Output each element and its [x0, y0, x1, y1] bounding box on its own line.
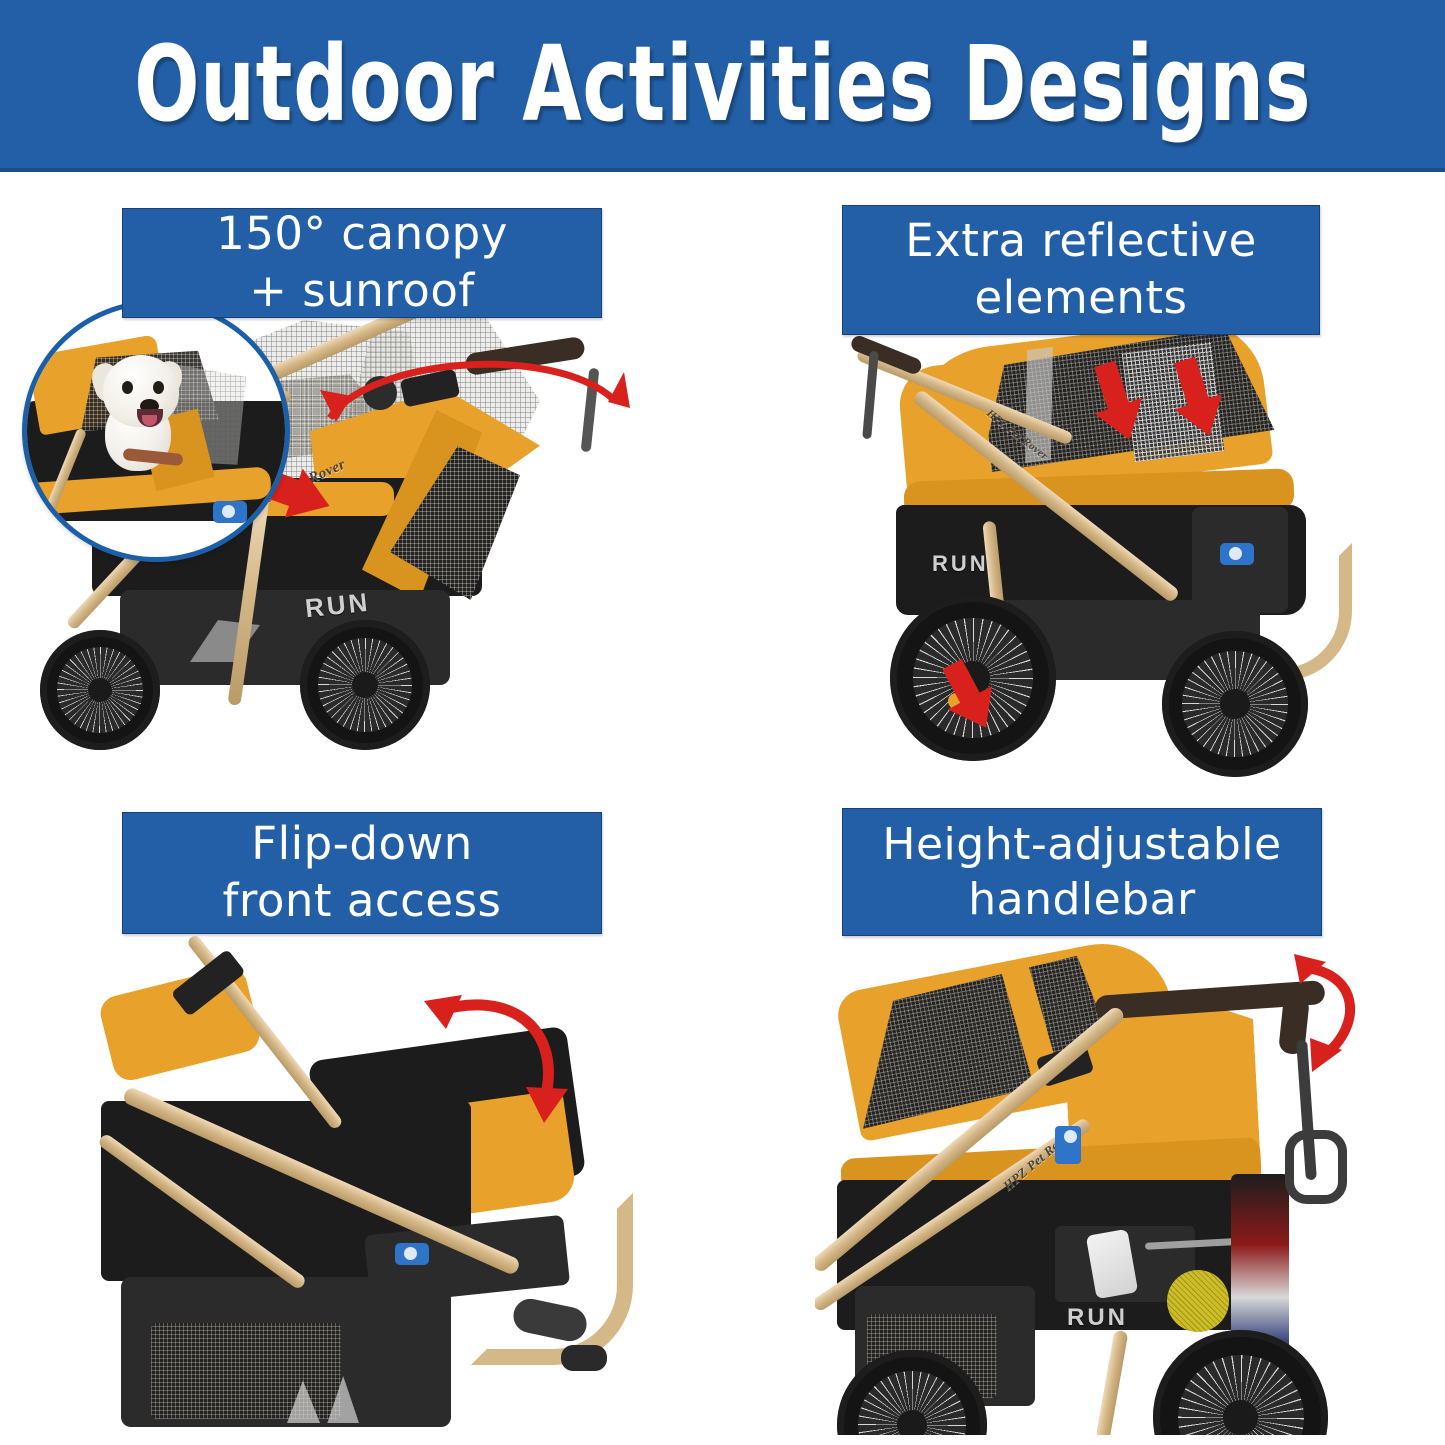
brand-text-basket: RUN — [932, 551, 989, 577]
feature-label-flipdown: Flip-down front access — [122, 812, 602, 934]
header-banner: Outdoor Activities Designs — [0, 0, 1445, 172]
feature-label-reflective: Extra reflective elements — [842, 205, 1320, 335]
wrist-strap — [862, 351, 879, 439]
feature-label-handlebar: Height-adjustable handlebar — [842, 808, 1322, 936]
dog-eye-right — [153, 381, 164, 394]
feature-panel-flipdown — [95, 925, 685, 1435]
feature-label-handlebar-line1: Height-adjustable — [882, 817, 1281, 872]
side-badge — [395, 1243, 429, 1265]
brand-text-basket: RUN — [1067, 1304, 1128, 1332]
yellow-mesh-pocket — [1167, 1270, 1229, 1332]
feature-panel-handlebar: RUN HPZ Pet Rover — [815, 930, 1435, 1435]
frame-front-arc — [471, 1193, 633, 1365]
feature-label-canopy-line2: + sunroof — [249, 263, 474, 320]
dog-eye-left — [122, 381, 133, 394]
feature-label-handlebar-line2: handlebar — [968, 872, 1195, 927]
wheel-front — [40, 630, 160, 750]
wheel-right — [1153, 1330, 1328, 1435]
dog-inset-circle — [22, 300, 290, 562]
feature-label-flipdown-line2: front access — [223, 873, 502, 930]
feature-label-flipdown-line1: Flip-down — [251, 816, 473, 873]
feature-label-canopy: 150° canopy + sunroof — [122, 208, 602, 318]
feature-label-reflective-line2: elements — [974, 270, 1187, 327]
frame-rear-leg — [1096, 1330, 1129, 1435]
infographic-page: Outdoor Activities Designs HPZ Pet Rover… — [0, 0, 1445, 1445]
handlebar-hub — [363, 376, 397, 410]
side-badge — [1055, 1126, 1081, 1164]
feature-label-canopy-line1: 150° canopy — [216, 206, 508, 263]
drink-holder-item — [1231, 1174, 1289, 1350]
wheel-front-large — [890, 595, 1056, 761]
wheel-rear — [300, 620, 430, 750]
wheel-rear-large — [1162, 631, 1308, 777]
page-title: Outdoor Activities Designs — [134, 32, 1311, 136]
feature-label-reflective-line1: Extra reflective — [905, 213, 1257, 270]
inset-badge — [213, 501, 247, 523]
brake-pedal — [561, 1345, 607, 1371]
wheel-reflector — [948, 693, 978, 709]
leash-strap-loop — [1285, 1130, 1347, 1204]
canopy-orange-rear — [97, 964, 263, 1084]
feature-panel-reflective: RUN HPZ Pet Rover — [840, 325, 1420, 795]
reflective-strip-right — [1122, 342, 1225, 462]
wrist-strap — [581, 368, 600, 453]
